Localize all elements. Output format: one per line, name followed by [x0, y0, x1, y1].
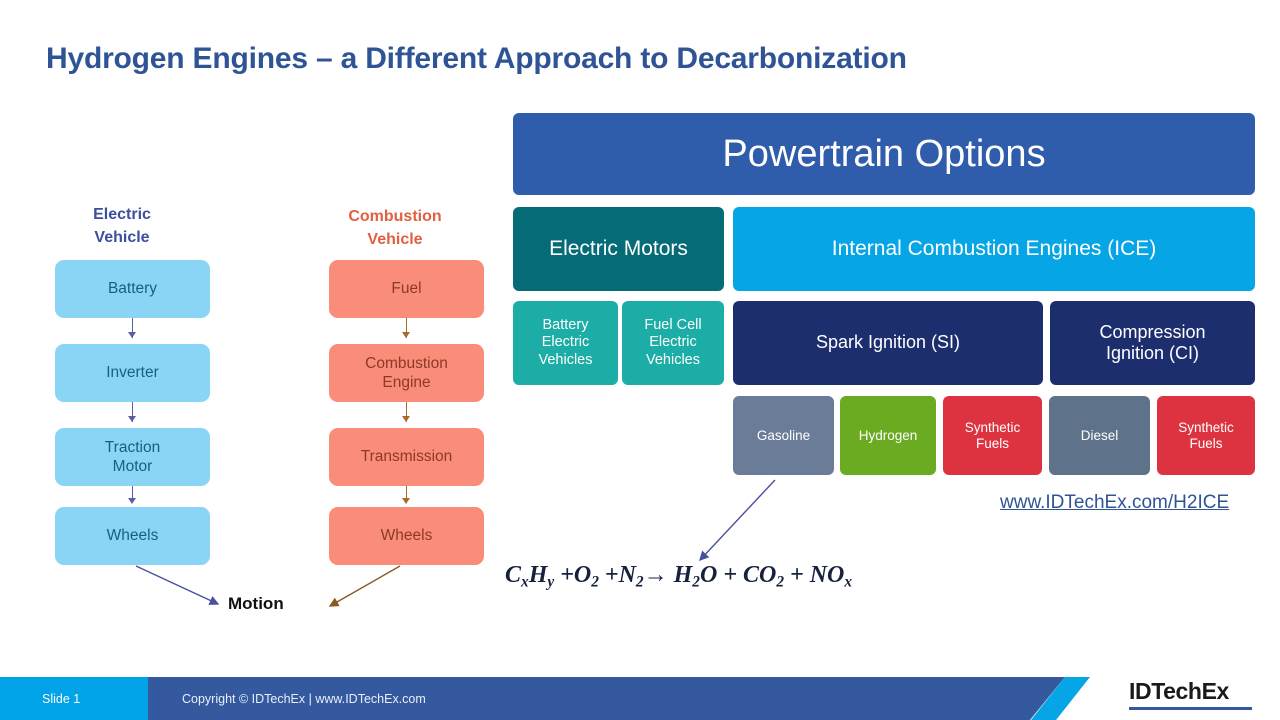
- powertrain-bev-label: BatteryElectricVehicles: [538, 317, 592, 368]
- powertrain-electric-motors[interactable]: Electric Motors: [513, 207, 724, 291]
- cv-node-transmission[interactable]: Transmission: [329, 428, 484, 486]
- equation-nox-sub: x: [844, 573, 852, 590]
- cv-arrow-head-3: [402, 498, 410, 504]
- equation-nox: NO: [810, 562, 845, 588]
- fuel-synthetic-ci-label: SyntheticFuels: [1178, 420, 1234, 452]
- footer-slide-number: Slide 1: [0, 677, 148, 720]
- equation-c: C: [505, 562, 521, 588]
- ev-node-inverter[interactable]: Inverter: [55, 344, 210, 402]
- idtechex-h2ice-link[interactable]: www.IDTechEx.com/H2ICE: [1000, 492, 1229, 514]
- equation-c-sub: x: [521, 573, 529, 590]
- powertrain-internal-combustion-engines[interactable]: Internal Combustion Engines (ICE): [733, 207, 1255, 291]
- equation-co2-sub: 2: [776, 573, 784, 590]
- powertrain-battery-electric-vehicles[interactable]: BatteryElectricVehicles: [513, 301, 618, 385]
- fuel-hydrogen[interactable]: Hydrogen: [840, 396, 936, 475]
- powertrain-fcev-label: Fuel CellElectricVehicles: [644, 317, 701, 368]
- footer-copyright: Copyright © IDTechEx | www.IDTechEx.com: [182, 677, 426, 720]
- ev-node-traction-motor[interactable]: TractionMotor: [55, 428, 210, 486]
- motion-label: Motion: [228, 594, 284, 614]
- equation-n2-sub: 2: [636, 573, 644, 590]
- fuel-gasoline[interactable]: Gasoline: [733, 396, 834, 475]
- footer-bar: Slide 1 Copyright © IDTechEx | www.IDTec…: [0, 677, 1090, 720]
- ev-arrow-head-2: [128, 416, 136, 422]
- cv-arrow-head-2: [402, 416, 410, 422]
- cv-node-combustion-engine[interactable]: CombustionEngine: [329, 344, 484, 402]
- powertrain-ci-label: CompressionIgnition (CI): [1099, 322, 1205, 364]
- combustion-vehicle-column-label: Combustion Vehicle: [320, 205, 470, 251]
- fuel-diesel[interactable]: Diesel: [1049, 396, 1150, 475]
- electric-vehicle-label-line2: Vehicle: [47, 226, 197, 249]
- cv-node-wheels[interactable]: Wheels: [329, 507, 484, 565]
- equation-plus-o2: +O: [554, 562, 591, 588]
- electric-vehicle-label-line1: Electric: [47, 203, 197, 226]
- equation-co2: CO: [743, 562, 776, 588]
- ev-arrow-head-1: [128, 332, 136, 338]
- combustion-equation: CxHy +O2 +N2→ H2O + CO2 + NOx: [505, 562, 852, 591]
- equation-o2-sub: 2: [591, 573, 599, 590]
- equation-plus-co2: +: [717, 562, 743, 588]
- powertrain-fuel-cell-electric-vehicles[interactable]: Fuel CellElectricVehicles: [622, 301, 724, 385]
- cv-node-fuel[interactable]: Fuel: [329, 260, 484, 318]
- equation-h2o-o: O: [700, 562, 717, 588]
- footer-slide-number-label: Slide 1: [0, 692, 80, 706]
- ev-node-wheels[interactable]: Wheels: [55, 507, 210, 565]
- equation-h: H: [529, 562, 548, 588]
- cv-arrow-head-1: [402, 332, 410, 338]
- cv-node-combustion-engine-label: CombustionEngine: [365, 354, 448, 393]
- electric-vehicle-column-label: Electric Vehicle: [47, 203, 197, 249]
- powertrain-spark-ignition[interactable]: Spark Ignition (SI): [733, 301, 1043, 385]
- ev-node-battery[interactable]: Battery: [55, 260, 210, 318]
- fuel-synthetic-si-label: SyntheticFuels: [965, 420, 1021, 452]
- equation-plus-nox: +: [784, 562, 810, 588]
- combustion-vehicle-label-line1: Combustion: [320, 205, 470, 228]
- idtechex-logo-underline: [1129, 707, 1252, 710]
- equation-h2o-sub: 2: [692, 573, 700, 590]
- fuel-synthetic-fuels-ci[interactable]: SyntheticFuels: [1157, 396, 1255, 475]
- powertrain-compression-ignition[interactable]: CompressionIgnition (CI): [1050, 301, 1255, 385]
- equation-h2o-h: H: [674, 562, 693, 588]
- ev-node-traction-motor-label: TractionMotor: [105, 438, 160, 477]
- combustion-vehicle-label-line2: Vehicle: [320, 228, 470, 251]
- equation-arrow: →: [644, 562, 674, 588]
- idtechex-logo: IDTechEx: [1129, 678, 1229, 705]
- ev-arrow-head-3: [128, 498, 136, 504]
- powertrain-options-header: Powertrain Options: [513, 113, 1255, 195]
- footer: Slide 1 Copyright © IDTechEx | www.IDTec…: [0, 677, 1280, 720]
- fuel-synthetic-fuels-si[interactable]: SyntheticFuels: [943, 396, 1042, 475]
- equation-plus-n2: +N: [599, 562, 636, 588]
- page-title: Hydrogen Engines – a Different Approach …: [46, 42, 1046, 76]
- slide-canvas: Hydrogen Engines – a Different Approach …: [0, 0, 1280, 720]
- footer-bar-background: [0, 677, 1090, 720]
